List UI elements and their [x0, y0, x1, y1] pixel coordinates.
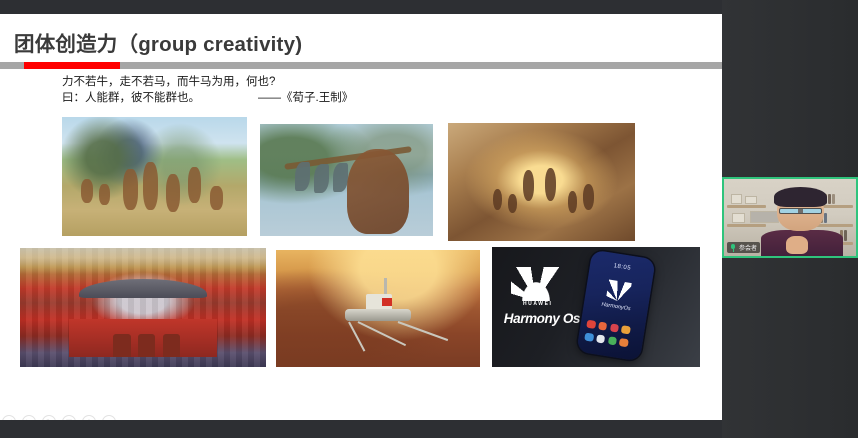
slide-quote: 力不若牛，走不若马，而牛马为用，何也? 曰：人能群，彼不能群也。——《荀子.王制…: [62, 74, 622, 106]
quote-line-2: 曰：人能群，彼不能群也。: [62, 92, 200, 104]
figure: [81, 179, 94, 203]
app-icon: [609, 324, 619, 333]
image-cave-painting-scene[interactable]: [448, 123, 635, 241]
book: [844, 230, 847, 241]
book: [824, 213, 827, 223]
app-icon: [598, 322, 608, 331]
figure: [143, 162, 158, 210]
app-icon: [586, 320, 596, 329]
lander-flag: [382, 298, 392, 306]
shelf: [727, 205, 767, 208]
shelf-box: [732, 213, 745, 223]
shelf-box: [750, 211, 779, 223]
participant-hair: [774, 187, 827, 207]
image-huawei-harmony-os[interactable]: HUAWEI Harmony Os 18:05 HarmonyOs: [492, 247, 700, 367]
shared-screen-stage[interactable]: 团体创造力（group creativity) 力不若牛，走不若马，而牛马为用，…: [0, 0, 722, 438]
palace-gate: [163, 334, 180, 358]
shared-screen-top-bar: [0, 0, 722, 14]
figure: [99, 184, 110, 205]
app-icon: [607, 336, 617, 345]
app-icon: [584, 332, 594, 341]
phone-huawei-logo: [605, 280, 631, 304]
figure: [166, 174, 181, 212]
image-prehistoric-hunting-party[interactable]: [62, 117, 247, 236]
lander-leg: [349, 322, 366, 352]
palace-roof: [79, 279, 207, 298]
lander-leg: [398, 321, 449, 341]
shelf-box: [745, 196, 757, 204]
participant-hand: [786, 236, 808, 254]
lander-deck: [345, 309, 410, 322]
figure: [347, 149, 409, 234]
figure: [523, 170, 534, 201]
image-prehistoric-fisherman[interactable]: [260, 124, 433, 236]
book: [828, 194, 831, 204]
participant-video-tile[interactable]: 参会者: [722, 177, 858, 258]
meeting-window: 团体创造力（group creativity) 力不若牛，走不若马，而牛马为用，…: [0, 0, 858, 438]
page-title: 团体创造力（group creativity): [14, 27, 614, 57]
lander-leg: [357, 321, 406, 346]
phone-status-time: 18:05: [589, 260, 654, 276]
quote-attribution: ——《荀子.王制》: [200, 92, 353, 104]
huawei-flower-logo: [511, 267, 561, 301]
fish: [314, 164, 330, 193]
participant-name-badge: 参会者: [727, 242, 760, 253]
figure: [123, 169, 138, 209]
book: [832, 194, 835, 204]
quote-line-2-wrapper: 曰：人能群，彼不能群也。——《荀子.王制》: [62, 90, 622, 106]
fish: [295, 162, 311, 191]
figure: [508, 194, 517, 213]
participant-name: 参会者: [739, 243, 757, 252]
figure: [568, 191, 577, 212]
shelf-box: [731, 194, 743, 204]
palace-gate: [113, 334, 130, 358]
shelf: [727, 224, 767, 227]
huawei-wordmark: HUAWEI: [509, 301, 567, 307]
figure: [210, 186, 223, 210]
palace-gate: [138, 334, 155, 358]
glasses-icon: [779, 208, 821, 214]
title-accent-bar: [24, 62, 120, 69]
phone-device: 18:05 HarmonyOs: [576, 250, 656, 362]
slide-navigation-toolbar[interactable]: ◀ ▶ ✎ ▤ ⌕ −: [0, 413, 162, 420]
app-icon: [596, 334, 606, 343]
image-mars-lander[interactable]: [276, 250, 480, 367]
figure: [188, 167, 201, 203]
figure: [493, 189, 502, 210]
quote-line-1: 力不若牛，走不若马，而牛马为用，何也?: [62, 74, 622, 90]
app-icon: [619, 338, 629, 347]
harmony-os-wordmark: Harmony Os: [500, 311, 583, 326]
microphone-icon: [730, 244, 736, 252]
figure: [545, 168, 556, 201]
image-forbidden-city[interactable]: [20, 248, 266, 367]
presentation-slide[interactable]: 团体创造力（group creativity) 力不若牛，走不若马，而牛马为用，…: [0, 14, 722, 420]
figure: [583, 184, 594, 210]
fish: [333, 163, 349, 192]
app-icon: [620, 326, 630, 335]
shared-screen-bottom-bar: [0, 420, 722, 438]
